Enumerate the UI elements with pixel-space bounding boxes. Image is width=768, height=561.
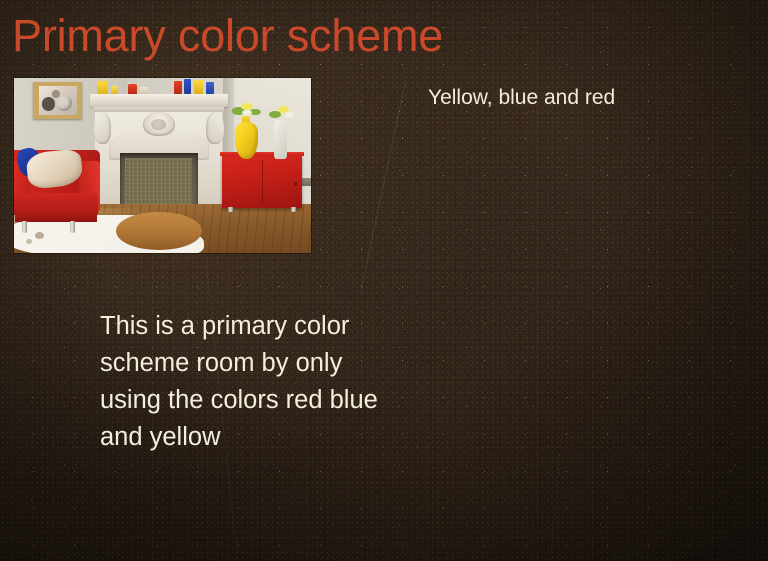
red-armchair — [14, 150, 100, 229]
cabinet-top — [220, 152, 303, 156]
yellow-vase — [235, 122, 257, 159]
presentation-slide: Primary color scheme Yellow, blue and re… — [0, 0, 768, 561]
mantel-object-yellow-1 — [97, 81, 108, 93]
flowers-right — [266, 103, 299, 122]
mantel-object-cream — [140, 87, 148, 93]
slide-caption: Yellow, blue and red — [428, 85, 615, 111]
slide-title: Primary color scheme — [12, 12, 712, 60]
fireplace-mantel-lip — [93, 107, 224, 112]
slide-body-text: This is a primary color scheme room by o… — [100, 308, 386, 456]
mantel-object-blue-2 — [206, 82, 214, 94]
framed-picture-canvas — [39, 86, 77, 115]
mantel-objects — [85, 78, 234, 94]
fireplace-scroll-left — [94, 112, 111, 144]
flower-bloom-b — [242, 110, 251, 115]
framed-picture — [33, 82, 82, 119]
fireplace-mantel — [90, 94, 227, 108]
fireplace-scroll-right — [206, 112, 223, 144]
fireplace-medallion — [143, 112, 175, 136]
mantel-object-red-2 — [174, 81, 181, 94]
room-photo — [14, 78, 311, 253]
mantel-object-yellow-2 — [111, 86, 118, 94]
mantel-object-blue-1 — [184, 79, 191, 93]
blue-coffee-table — [112, 197, 311, 253]
table-edge-right — [198, 217, 311, 253]
cabinet-knob — [294, 182, 297, 186]
picture-shape-right — [56, 95, 72, 111]
rug-spot-1 — [35, 232, 44, 239]
armchair-leg-left — [22, 221, 27, 234]
cabinet-door-seam — [262, 160, 263, 202]
armchair-leg-right — [70, 221, 75, 234]
room-photo-scene — [14, 78, 311, 253]
table-edge-left — [116, 212, 202, 251]
white-vase — [274, 120, 287, 159]
mantel-object-red-1 — [128, 84, 137, 94]
rug-spot-2 — [26, 239, 32, 244]
mantel-object-yellow-3 — [194, 80, 204, 94]
flower-bloom-d — [285, 112, 294, 117]
picture-shape-left — [42, 97, 56, 111]
